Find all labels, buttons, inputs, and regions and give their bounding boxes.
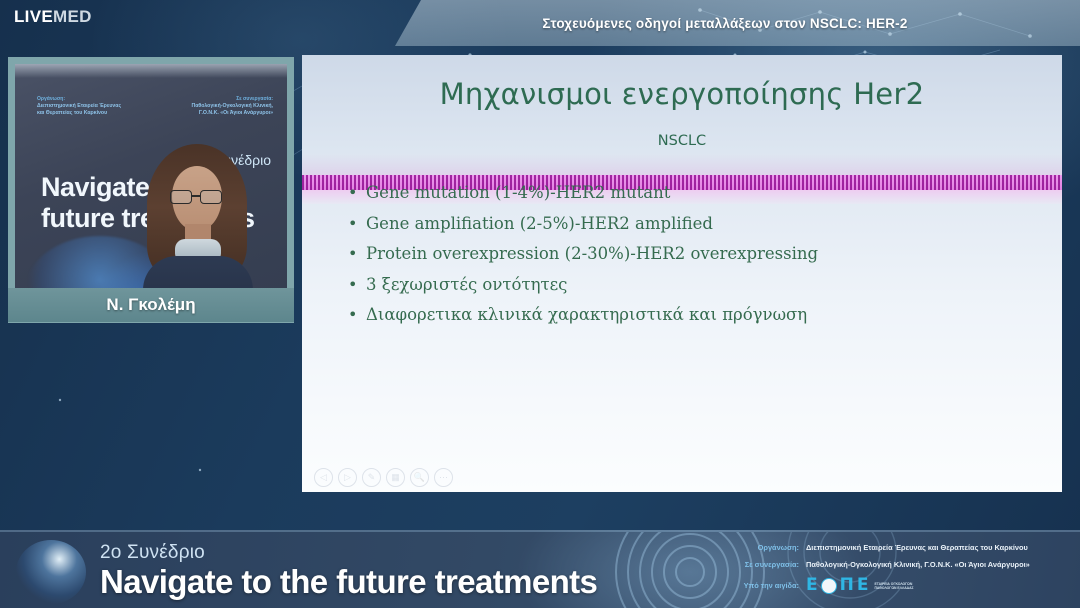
- banner-text-block: 2ο Συνέδριο Navigate to the future treat…: [100, 542, 597, 600]
- credit-row: Υπό την αιγίδα:EΠEΕΤΑΙΡΕΙΑ ΟΓΚΟΛΟΓΩΝ ΠΑΘ…: [740, 577, 1070, 594]
- backdrop-cooperation-label: Σε συνεργασία:: [191, 96, 273, 103]
- slide-bullet-item: Διαφορετικα κλινικά χαρακτηριστικά και π…: [346, 300, 1038, 331]
- band-halo: [302, 154, 1062, 175]
- credit-label: Οργάνωση:: [740, 543, 806, 552]
- slide-bullet-item: Protein overexpression (2-30%)-HER2 over…: [346, 239, 1038, 270]
- session-title: Στοχευόμενες οδηγοί μεταλλάξεων στον NSC…: [395, 0, 1055, 46]
- play-slide-icon[interactable]: ▷: [338, 468, 357, 487]
- backdrop-organizer-label: Οργάνωση:: [37, 96, 121, 103]
- slide-grid-icon[interactable]: ▦: [386, 468, 405, 487]
- event-banner: 2ο Συνέδριο Navigate to the future treat…: [0, 530, 1080, 608]
- backdrop-cooperation: Σε συνεργασία: Παθολογική-Ογκολογική Κλι…: [191, 96, 273, 117]
- slide-bullet-list: Gene mutation (1-4%)-HER2 mutantGene amp…: [346, 178, 1038, 331]
- annotate-pen-icon[interactable]: ✎: [362, 468, 381, 487]
- credit-row: Οργάνωση:Διεπιστημονική Εταιρεία Έρευνας…: [740, 543, 1070, 552]
- logo-live-text: LIVE: [14, 7, 53, 26]
- broadcast-player: LIVEMED Στοχευόμενες οδηγοί μεταλλάξεων …: [0, 0, 1080, 608]
- backdrop-organizer: Οργάνωση: Διεπιστημονική Εταιρεία Έρευνα…: [37, 96, 121, 117]
- slide-toolbar[interactable]: ◁▷✎▦🔍⋯: [314, 468, 453, 487]
- speaker-video-panel[interactable]: Οργάνωση: Διεπιστημονική Εταιρεία Έρευνα…: [8, 57, 294, 323]
- previous-slide-icon[interactable]: ◁: [314, 468, 333, 487]
- credit-label: Σε συνεργασία:: [740, 560, 806, 569]
- video-feed: Οργάνωση: Διεπιστημονική Εταιρεία Έρευνα…: [15, 64, 287, 316]
- credit-row: Σε συνεργασία:Παθολογική-Ογκολογική Κλιν…: [740, 560, 1070, 569]
- top-header-bar: LIVEMED Στοχευόμενες οδηγοί μεταλλάξεων …: [0, 0, 1080, 46]
- credit-label: Υπό την αιγίδα:: [740, 581, 806, 590]
- eope-orb-icon: [821, 578, 837, 594]
- eope-letter-e1: E: [806, 577, 818, 594]
- glasses-icon: [169, 190, 225, 205]
- eope-logo: EΠEΕΤΑΙΡΕΙΑ ΟΓΚΟΛΟΓΩΝ ΠΑΘΟΛΟΓΩΝ ΕΛΛΑΔΑΣ: [806, 577, 922, 594]
- slide-subtitle: NSCLC: [302, 133, 1062, 149]
- presentation-slide[interactable]: Μηχανισμοι ενεργοποίησης Her2 NSCLC Gene…: [302, 55, 1062, 492]
- credit-value: Παθολογική-Ογκολογική Κλινική, Γ.Ο.Ν.Κ. …: [806, 560, 1030, 569]
- slide-bullet-item: Gene amplifiation (2-5%)-HER2 amplified: [346, 209, 1038, 240]
- slide-bullet-item: 3 ξεχωριστές οντότητες: [346, 270, 1038, 301]
- slide-bullet-item: Gene mutation (1-4%)-HER2 mutant: [346, 178, 1038, 209]
- banner-title: Navigate to the future treatments: [100, 564, 597, 600]
- banner-subtitle: 2ο Συνέδριο: [100, 542, 597, 564]
- eope-tagline: ΕΤΑΙΡΕΙΑ ΟΓΚΟΛΟΓΩΝ ΠΑΘΟΛΟΓΩΝ ΕΛΛΑΔΑΣ: [874, 582, 922, 590]
- livemed-logo[interactable]: LIVEMED: [14, 8, 92, 26]
- banner-orb-graphic: [16, 540, 86, 604]
- zoom-slide-icon[interactable]: 🔍: [410, 468, 429, 487]
- slide-title: Μηχανισμοι ενεργοποίησης Her2: [302, 77, 1062, 111]
- banner-credits: Οργάνωση:Διεπιστημονική Εταιρεία Έρευνας…: [740, 543, 1070, 602]
- speaker-name-badge: Ν. Γκολέμη: [8, 288, 294, 322]
- stage-light: [15, 64, 287, 78]
- eope-letter-pi: Π: [840, 577, 854, 594]
- credit-value: Διεπιστημονική Εταιρεία Έρευνας και Θερα…: [806, 543, 1028, 552]
- backdrop-cooperation-value: Παθολογική-Ογκολογική Κλινική,Γ.Ο.Ν.Κ. «…: [191, 103, 273, 116]
- eope-letter-e2: E: [857, 577, 869, 594]
- logo-med-text: MED: [53, 7, 92, 26]
- more-options-icon[interactable]: ⋯: [434, 468, 453, 487]
- backdrop-organizer-value: Διεπιστημονική Εταιρεία Έρευναςκαι Θεραπ…: [37, 103, 121, 116]
